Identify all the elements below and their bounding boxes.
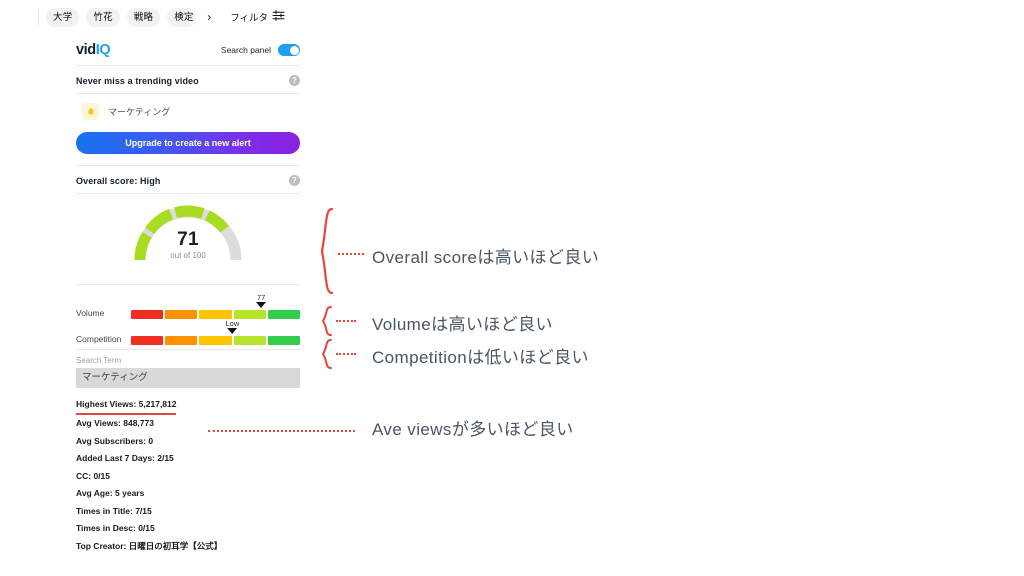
meter-label-competition: Competition xyxy=(76,334,131,345)
meter-segment xyxy=(165,310,197,319)
stat-times-in-title: Times in Title: 7/15 xyxy=(76,503,300,521)
stat-row-highest-views: Highest Views: 5,217,812 xyxy=(76,394,300,415)
chip-0[interactable]: 大学 xyxy=(46,8,79,27)
meter-marker-value: Low xyxy=(226,319,240,328)
upgrade-button[interactable]: Upgrade to create a new alert xyxy=(76,132,300,154)
annotation-dots-competition xyxy=(336,353,356,355)
marker-triangle-icon xyxy=(256,302,266,308)
meter-marker-competition: Low xyxy=(226,319,240,334)
filter-button[interactable]: フィルタ xyxy=(230,9,285,25)
stat-added-last-7-days: Added Last 7 Days: 2/15 xyxy=(76,450,300,468)
chip-3[interactable]: 検定 xyxy=(167,8,196,27)
meter-marker-volume: 77 xyxy=(256,293,266,308)
stat-highest-views: Highest Views: 5,217,812 xyxy=(76,397,176,415)
chip-1[interactable]: 竹花 xyxy=(86,8,119,27)
meter-segment xyxy=(234,310,266,319)
toggle-knob xyxy=(290,46,299,55)
meter-bar-volume: 77 xyxy=(131,310,300,319)
stats-list: Highest Views: 5,217,812 Avg Views: 848,… xyxy=(68,388,308,555)
panel-header: vidIQ Search panel xyxy=(68,35,308,65)
meter-row-volume: Volume 77 xyxy=(76,293,300,319)
chevron-right-icon[interactable]: › xyxy=(207,11,211,23)
meter-segment xyxy=(199,310,231,319)
meter-segment xyxy=(165,336,197,345)
overall-score-title: Overall score: High xyxy=(76,176,160,186)
overall-score-header: Overall score: High ? xyxy=(68,166,308,193)
annotation-text-volume: Volumeは高いほど良い xyxy=(372,310,553,335)
alert-keyword-row[interactable]: マーケティング xyxy=(68,94,308,129)
annotation-text-ave-views: Ave viewsが多いほど良い xyxy=(372,415,574,440)
annotation-text-overall-score: Overall scoreは高いほど良い xyxy=(372,243,599,268)
annotation-brace-competition xyxy=(320,338,334,375)
annotation-dots-volume xyxy=(336,320,356,322)
overall-score-outof: out of 100 xyxy=(68,251,308,260)
overall-score-value: 71 xyxy=(68,229,308,251)
bell-icon xyxy=(82,103,99,120)
search-panel-label: Search panel xyxy=(221,45,271,55)
stat-top-creator: Top Creator: 日曜日の初耳学【公式】 xyxy=(76,538,300,556)
stat-avg-subscribers: Avg Subscribers: 0 xyxy=(76,433,300,451)
filter-icon xyxy=(272,9,285,25)
logo-iq: IQ xyxy=(96,42,111,58)
meter-row-competition: Competition Low xyxy=(76,319,300,345)
annotation-brace-volume xyxy=(320,305,334,342)
filter-label: フィルタ xyxy=(230,10,268,24)
stat-avg-age: Avg Age: 5 years xyxy=(76,485,300,503)
meter-segment xyxy=(131,336,163,345)
youtube-chip-bar: 大学 竹花 戦略 検定 › フィルタ xyxy=(0,0,1024,34)
annotation-dots-ave-views xyxy=(208,430,355,432)
annotation-dots-overall-score xyxy=(338,253,364,255)
stat-cc: CC: 0/15 xyxy=(76,468,300,486)
meter-label-volume: Volume xyxy=(76,308,131,319)
annotation-text-competition: Competitionは低いほど良い xyxy=(372,343,589,368)
meter-segment xyxy=(268,336,300,345)
trending-alert-title: Never miss a trending video xyxy=(76,76,199,86)
vidiq-logo: vidIQ xyxy=(76,42,110,58)
annotation-brace-overall-score xyxy=(318,207,336,300)
overall-score-gauge: 71 out of 100 xyxy=(68,194,308,284)
help-icon-trending[interactable]: ? xyxy=(289,75,300,86)
search-term-label: Search Term xyxy=(68,350,308,368)
chip-2[interactable]: 戦略 xyxy=(127,8,160,27)
marker-triangle-icon xyxy=(227,328,237,334)
meters-group: Volume 77 Competition xyxy=(68,285,308,349)
chip-bar-divider xyxy=(38,9,39,25)
trending-alert-header: Never miss a trending video ? xyxy=(68,66,308,93)
meter-bar-competition: Low xyxy=(131,336,300,345)
stat-times-in-desc: Times in Desc: 0/15 xyxy=(76,520,300,538)
meter-segment xyxy=(131,310,163,319)
search-panel-toggle-group[interactable]: Search panel xyxy=(221,44,300,56)
vidiq-panel: vidIQ Search panel Never miss a trending… xyxy=(68,35,308,555)
meter-segment xyxy=(199,336,231,345)
meter-segment xyxy=(234,336,266,345)
meter-segment xyxy=(268,310,300,319)
help-icon-score[interactable]: ? xyxy=(289,175,300,186)
search-panel-toggle[interactable] xyxy=(278,44,300,56)
search-term-input[interactable]: マーケティング xyxy=(76,368,300,388)
alert-keyword: マーケティング xyxy=(108,105,170,118)
logo-vid: vid xyxy=(76,42,96,58)
meter-marker-value: 77 xyxy=(256,293,266,302)
